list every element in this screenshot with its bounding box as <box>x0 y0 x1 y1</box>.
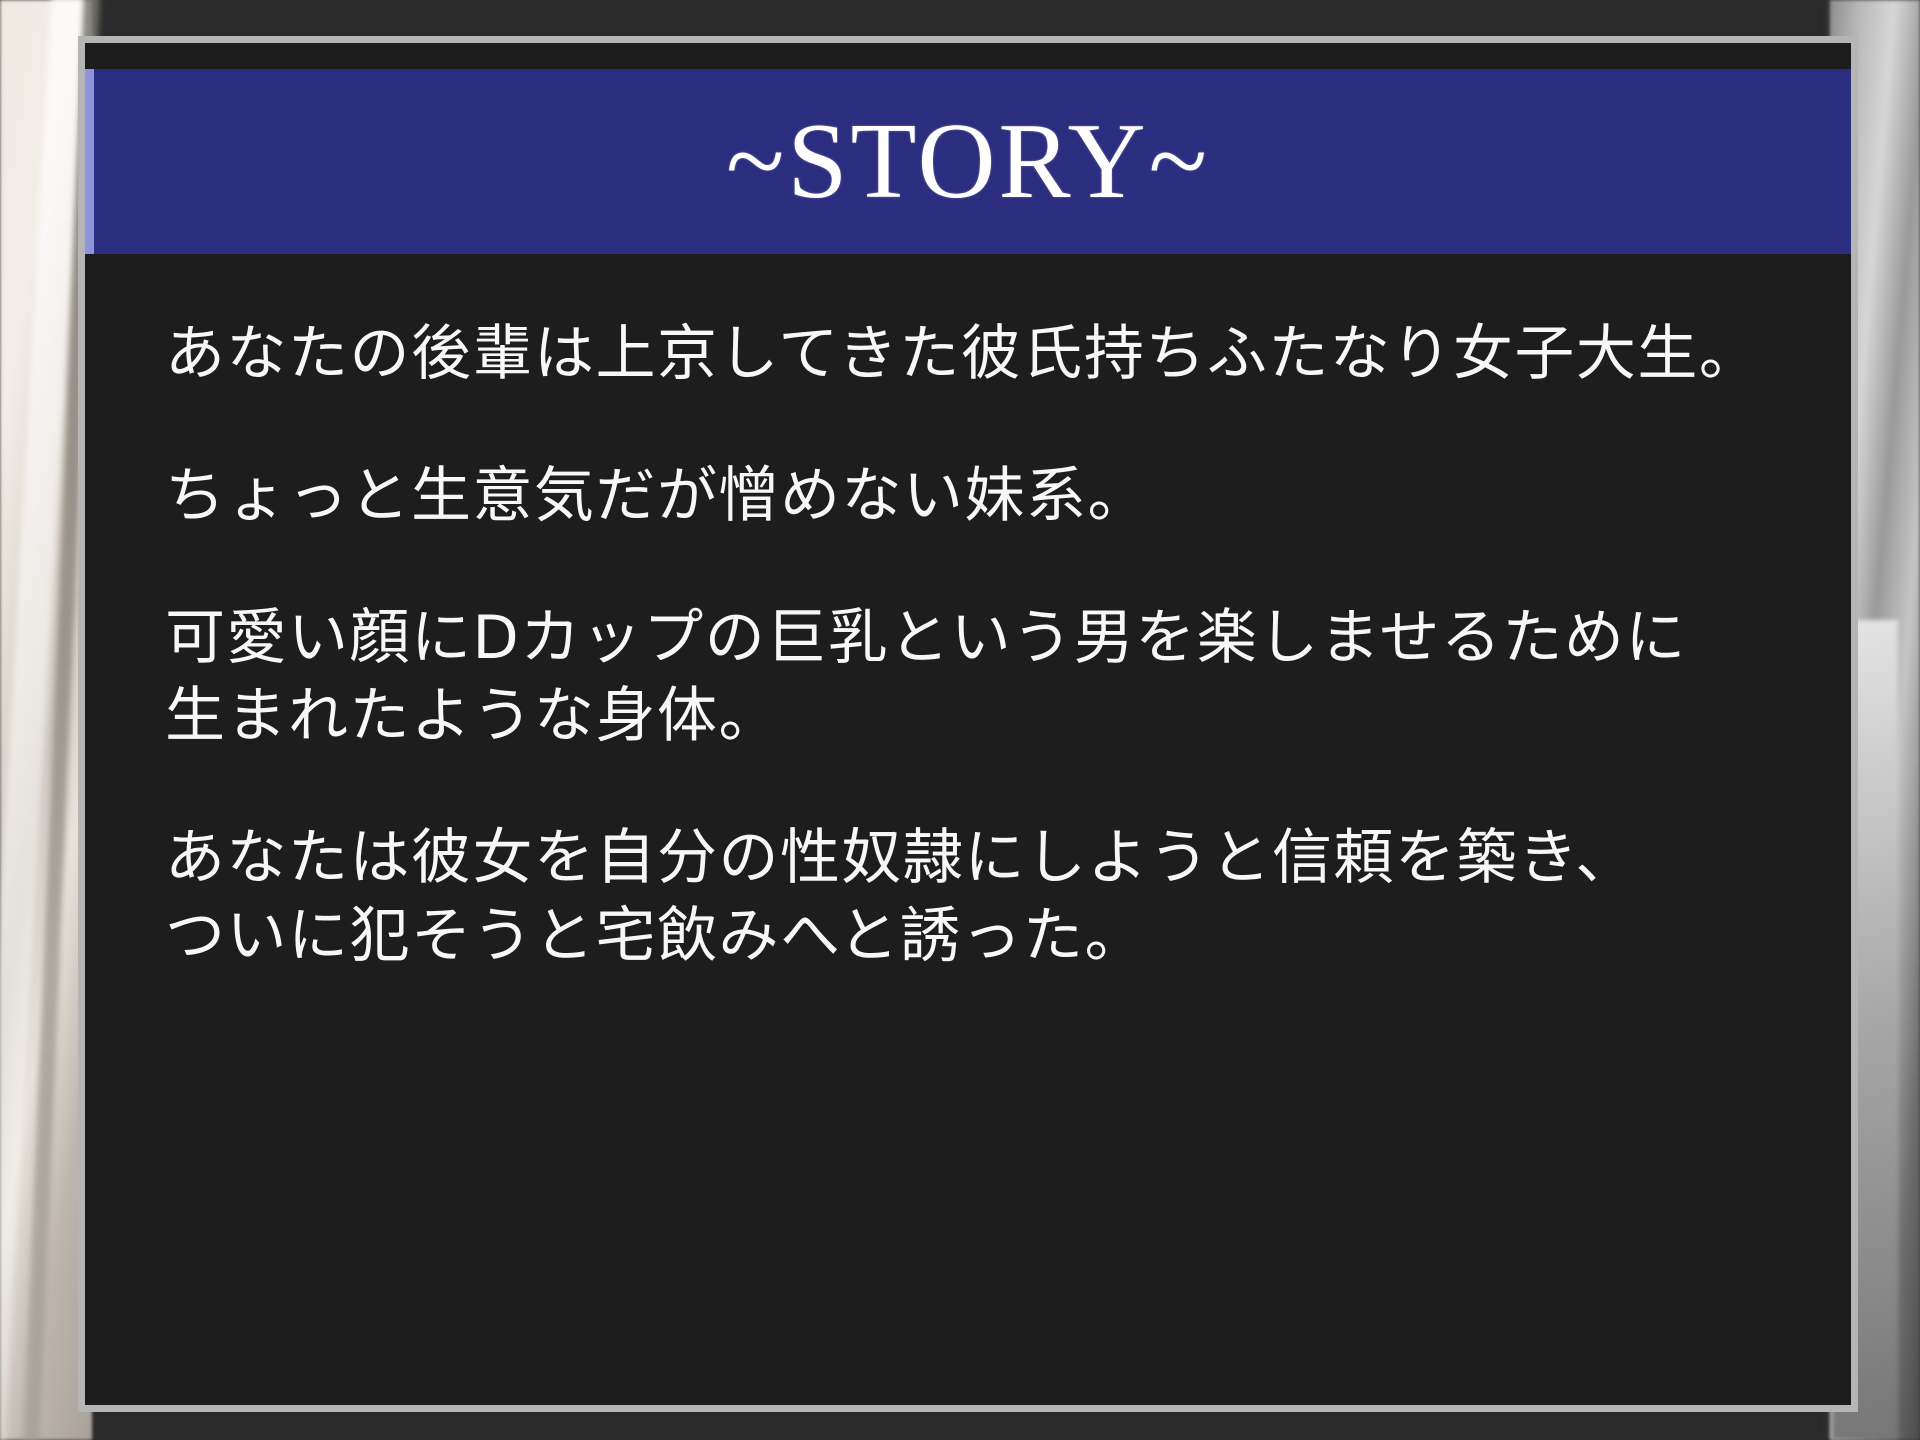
story-line: あなたは彼女を自分の性奴隷にしようと信頼を築き、 <box>165 819 1793 897</box>
story-line: 可愛い顔にDカップの巨乳という男を楽しませるために <box>165 599 1793 677</box>
story-paragraph: 可愛い顔にDカップの巨乳という男を楽しませるために 生まれたような身体。 <box>165 599 1793 755</box>
story-paragraph: あなたの後輩は上京してきた彼氏持ちふたなり女子大生。 <box>165 315 1793 393</box>
story-header-band: ~STORY~ <box>85 69 1851 254</box>
page-title: ~STORY~ <box>726 108 1210 216</box>
story-paragraph: あなたは彼女を自分の性奴隷にしようと信頼を築き、 ついに犯そうと宅飲みへと誘った… <box>165 819 1793 975</box>
story-body: あなたの後輩は上京してきた彼氏持ちふたなり女子大生。 ちょっと生意気だが憎めない… <box>103 271 1833 1385</box>
story-line: あなたの後輩は上京してきた彼氏持ちふたなり女子大生。 <box>165 315 1793 393</box>
story-card-screen: ~STORY~ あなたの後輩は上京してきた彼氏持ちふたなり女子大生。 ちょっと生… <box>0 0 1920 1440</box>
story-line: ついに犯そうと宅飲みへと誘った。 <box>165 897 1793 975</box>
story-line: 生まれたような身体。 <box>165 677 1793 755</box>
story-line: ちょっと生意気だが憎めない妹系。 <box>165 457 1793 535</box>
story-panel: ~STORY~ あなたの後輩は上京してきた彼氏持ちふたなり女子大生。 ちょっと生… <box>78 36 1858 1412</box>
story-paragraph: ちょっと生意気だが憎めない妹系。 <box>165 457 1793 535</box>
